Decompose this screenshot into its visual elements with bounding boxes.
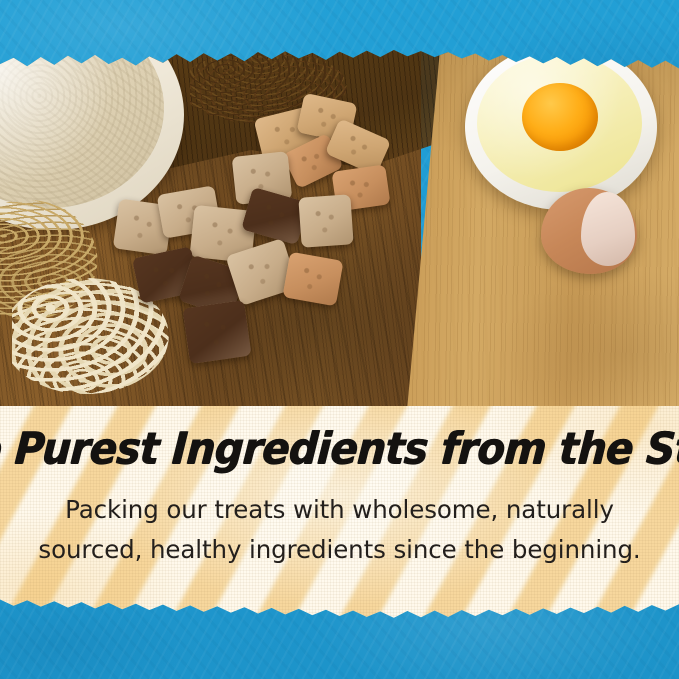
message-panel: The Purest Ingredients from the Start Pa…	[0, 406, 679, 619]
egg-bowl	[465, 50, 657, 210]
product-lifestyle-banner: The Purest Ingredients from the Start Pa…	[0, 0, 679, 679]
egg-yolk	[522, 83, 598, 151]
subcopy: Packing our treats with wholesome, natur…	[35, 490, 645, 569]
dog-treat	[298, 194, 353, 248]
ingredients-photo	[0, 50, 679, 406]
subcopy-line-2: sourced, healthy ingredients since the b…	[35, 530, 645, 570]
headline: The Purest Ingredients from the Start	[0, 426, 679, 472]
dog-treat	[182, 300, 251, 364]
panel-content: The Purest Ingredients from the Start Pa…	[0, 406, 679, 619]
dog-treat	[282, 252, 343, 307]
subcopy-line-1: Packing our treats with wholesome, natur…	[35, 490, 645, 530]
eggshell-half	[541, 188, 637, 274]
egg-white	[477, 54, 642, 192]
flour-powder	[0, 50, 164, 208]
